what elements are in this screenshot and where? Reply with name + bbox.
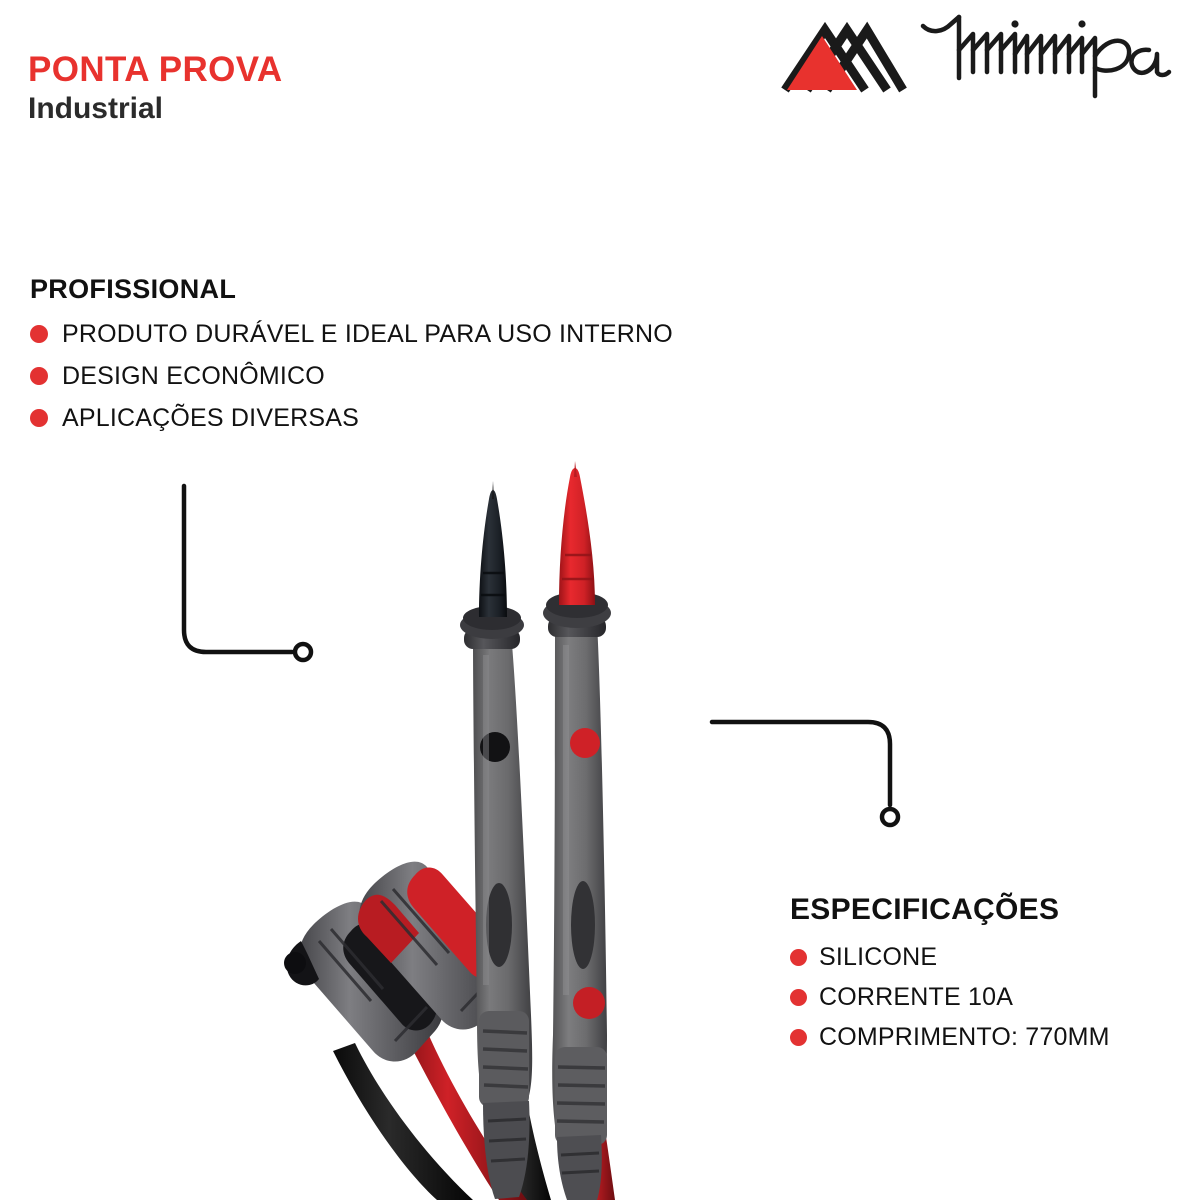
specification-item-label: COMPRIMENTO: 770MM (819, 1023, 1110, 1052)
specifications-section: ESPECIFICAÇÕES SILICONE CORRENTE 10A COM… (790, 893, 1110, 1057)
probe-black-grip (479, 1011, 529, 1107)
product-subtitle: Industrial (28, 93, 283, 125)
bullet-dot-icon (30, 325, 48, 343)
feature-item-label: DESIGN ECONÔMICO (62, 362, 325, 391)
product-title: PONTA PROVA (28, 52, 283, 87)
feature-item: DESIGN ECONÔMICO (30, 355, 673, 397)
bullet-dot-icon (790, 949, 807, 966)
specification-item: COMPRIMENTO: 770MM (790, 1017, 1110, 1057)
bullet-dot-icon (30, 367, 48, 385)
mountain-logo-icon (777, 8, 907, 103)
specification-item: CORRENTE 10A (790, 977, 1110, 1017)
wordmark-dot-i1 (1011, 20, 1018, 27)
bullet-dot-icon (790, 989, 807, 1006)
probe-red (543, 461, 611, 1145)
feature-item: PRODUTO DURÁVEL E IDEAL PARA USO INTERNO (30, 313, 673, 355)
specification-item-label: SILICONE (819, 943, 937, 972)
bullet-dot-icon (790, 1029, 807, 1046)
product-marketing-banner: PONTA PROVA Industrial (0, 0, 1200, 1200)
probe-black-tip (479, 490, 507, 617)
specifications-heading: ESPECIFICAÇÕES (790, 893, 1110, 927)
features-heading: PROFISSIONAL (30, 274, 673, 305)
probe-red-tip (559, 468, 595, 605)
bullet-dot-icon (30, 409, 48, 427)
leader-line-right (700, 705, 920, 855)
test-lead-probes-photo (255, 455, 715, 1200)
minipa-wordmark-icon (917, 10, 1182, 102)
page-title: PONTA PROVA Industrial (28, 52, 283, 125)
features-section: PROFISSIONAL PRODUTO DURÁVEL E IDEAL PAR… (30, 274, 673, 439)
probe-red-accent-dot (570, 728, 600, 758)
wordmark-dot-i2 (1078, 20, 1085, 27)
leader-endpoint-circle-right (882, 809, 898, 825)
brand-logo (777, 8, 1182, 103)
feature-item: APLICAÇÕES DIVERSAS (30, 397, 673, 439)
feature-item-label: APLICAÇÕES DIVERSAS (62, 404, 359, 433)
probe-red-grip (555, 1047, 607, 1145)
specification-item-label: CORRENTE 10A (819, 983, 1013, 1012)
feature-item-label: PRODUTO DURÁVEL E IDEAL PARA USO INTERNO (62, 320, 673, 349)
specification-item: SILICONE (790, 937, 1110, 977)
